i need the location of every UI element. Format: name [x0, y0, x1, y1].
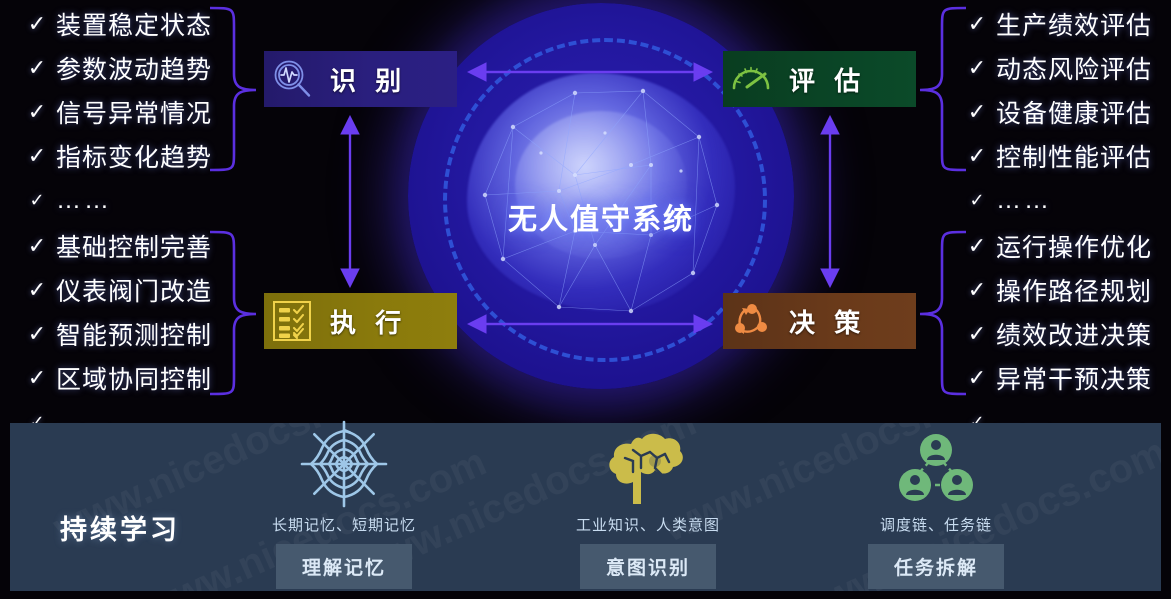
- list-item: ✓智能预测控制: [18, 312, 212, 356]
- list-item: ✓设备健康评估: [958, 90, 1152, 134]
- center-label: 无人值守系统: [408, 196, 794, 238]
- check-icon: ✓: [18, 57, 56, 79]
- node-label: 识 别: [330, 61, 407, 98]
- check-icon: ✓: [958, 367, 996, 389]
- bottom-cell-button[interactable]: 意图识别: [580, 544, 716, 589]
- node-evaluate[interactable]: 评 估: [723, 51, 916, 107]
- check-icon: ✓: [958, 13, 996, 35]
- check-icon: ✓: [958, 279, 996, 301]
- list-item: ✓信号异常情况: [18, 90, 212, 134]
- list-bottom-left: ✓基础控制完善 ✓仪表阀门改造 ✓智能预测控制 ✓区域协同控制 ✓……: [18, 224, 212, 444]
- check-icon: ✓: [18, 101, 56, 123]
- check-icon: ✓: [18, 367, 56, 389]
- list-item: ✓运行操作优化: [958, 224, 1152, 268]
- list-item: ✓装置稳定状态: [18, 2, 212, 46]
- list-item: ✓指标变化趋势: [18, 134, 212, 178]
- node-label: 执 行: [330, 303, 407, 340]
- check-icon: ✓: [18, 235, 56, 257]
- list-top-left: ✓装置稳定状态 ✓参数波动趋势 ✓信号异常情况 ✓指标变化趋势 ✓……: [18, 2, 212, 222]
- list-item: ✓动态风险评估: [958, 46, 1152, 90]
- bottom-cell-button[interactable]: 任务拆解: [868, 544, 1004, 589]
- cycle-arrows-icon: [723, 293, 779, 349]
- node-label: 评 估: [789, 61, 866, 98]
- list-item: ✓仪表阀门改造: [18, 268, 212, 312]
- check-icon: ✓: [958, 323, 996, 345]
- bottom-cell-memory: 长期记忆、短期记忆 理解记忆: [224, 430, 464, 589]
- checklist-icon: [264, 293, 320, 349]
- spider-web-icon: [224, 430, 464, 508]
- list-item: ✓区域协同控制: [18, 356, 212, 400]
- bottom-cell-intent: 工业知识、人类意图 意图识别: [528, 430, 768, 589]
- check-icon: ✓: [958, 101, 996, 123]
- people-network-icon: [816, 430, 1056, 508]
- check-icon: ✓: [958, 235, 996, 257]
- list-item: ✓操作路径规划: [958, 268, 1152, 312]
- bottom-cell-button[interactable]: 理解记忆: [276, 544, 412, 589]
- gauge-icon: [723, 51, 779, 107]
- check-icon: ✓: [958, 191, 996, 209]
- bottom-cell-caption: 长期记忆、短期记忆: [224, 514, 464, 535]
- node-execute[interactable]: 执 行: [264, 293, 457, 349]
- brain-network-icon: [455, 45, 747, 345]
- bottom-title: 持续学习: [60, 508, 180, 547]
- check-icon: ✓: [958, 145, 996, 167]
- list-item: ✓生产绩效评估: [958, 2, 1152, 46]
- check-icon: ✓: [18, 323, 56, 345]
- check-icon: ✓: [18, 145, 56, 167]
- list-item: ✓绩效改进决策: [958, 312, 1152, 356]
- bottom-cell-caption: 工业知识、人类意图: [528, 514, 768, 535]
- node-label: 决 策: [789, 303, 866, 340]
- list-item: ✓……: [958, 178, 1152, 222]
- check-icon: ✓: [18, 191, 56, 209]
- check-icon: ✓: [958, 57, 996, 79]
- bottom-cell-task: 调度链、任务链 任务拆解: [816, 430, 1056, 589]
- diagram-root: 无人值守系统: [0, 0, 1171, 599]
- list-bottom-right: ✓运行操作优化 ✓操作路径规划 ✓绩效改进决策 ✓异常干预决策 ✓……: [958, 224, 1152, 444]
- check-icon: ✓: [18, 13, 56, 35]
- list-item: ✓……: [18, 178, 212, 222]
- list-item: ✓基础控制完善: [18, 224, 212, 268]
- magnifier-waveform-icon: [264, 51, 320, 107]
- list-item: ✓参数波动趋势: [18, 46, 212, 90]
- node-recognize[interactable]: 识 别: [264, 51, 457, 107]
- list-top-right: ✓生产绩效评估 ✓动态风险评估 ✓设备健康评估 ✓控制性能评估 ✓……: [958, 2, 1152, 222]
- list-item: ✓异常干预决策: [958, 356, 1152, 400]
- check-icon: ✓: [18, 279, 56, 301]
- brain-outline-icon: [528, 430, 768, 508]
- list-item: ✓控制性能评估: [958, 134, 1152, 178]
- bottom-cell-caption: 调度链、任务链: [816, 514, 1056, 535]
- node-decide[interactable]: 决 策: [723, 293, 916, 349]
